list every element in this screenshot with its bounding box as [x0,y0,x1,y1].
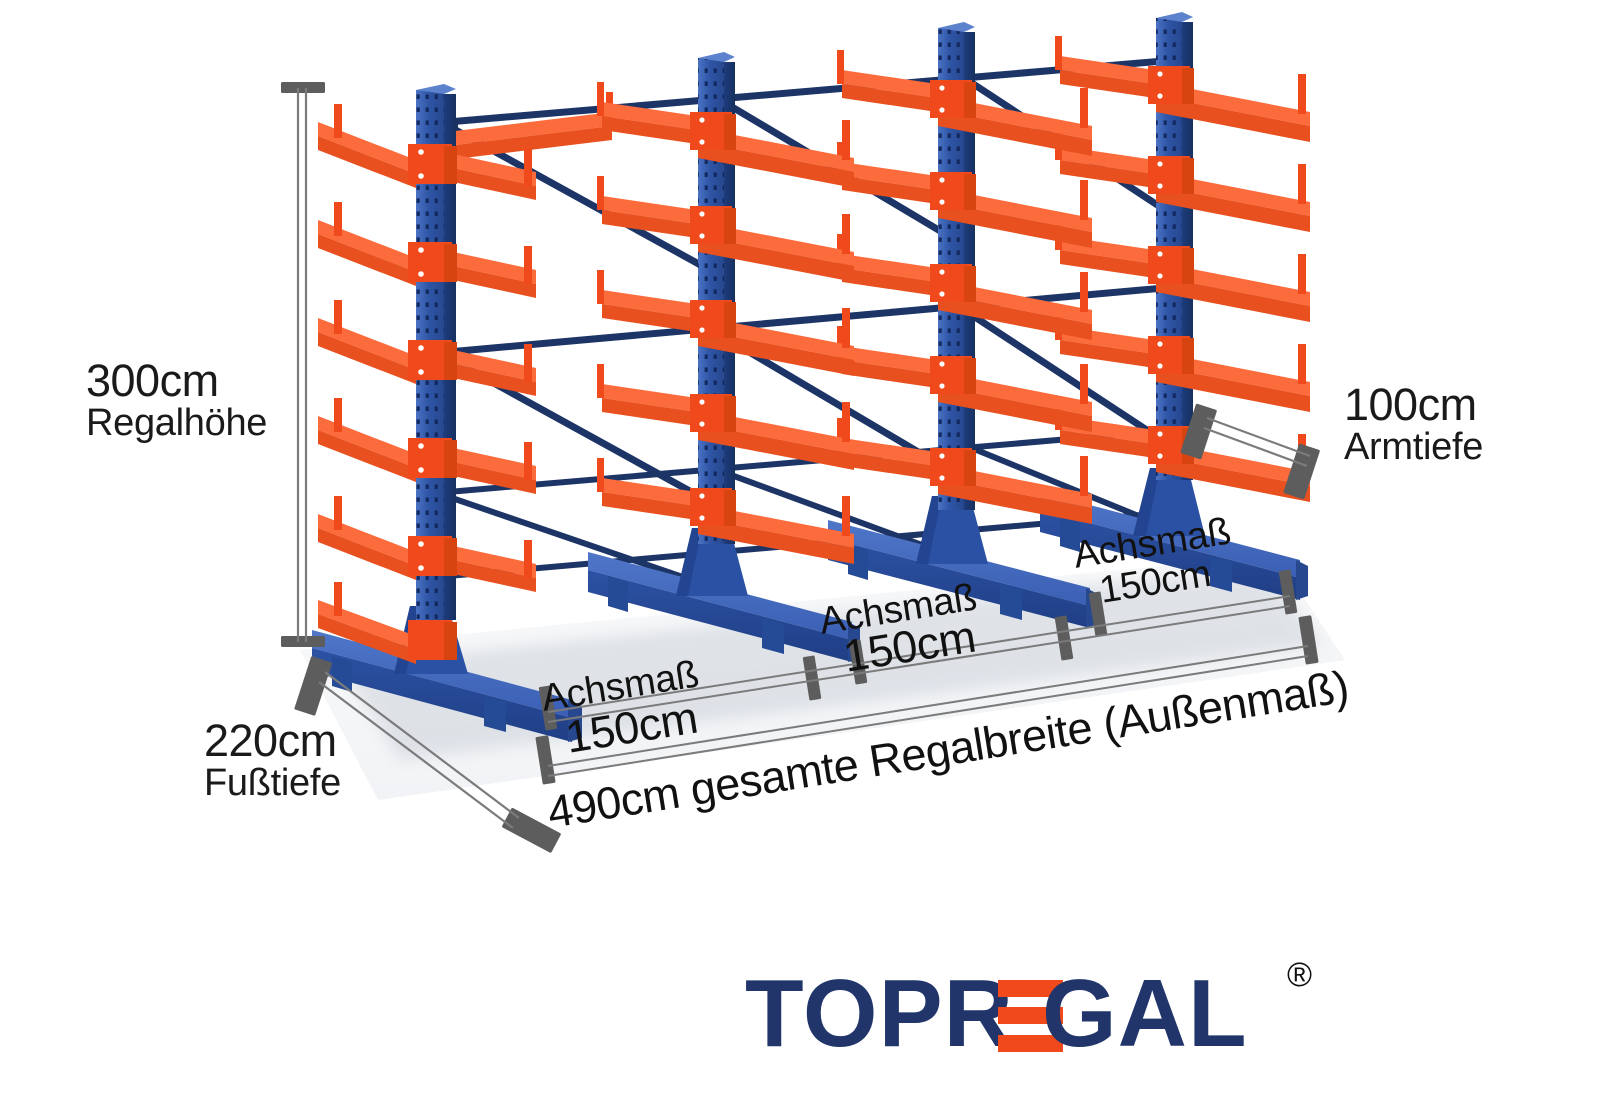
arm-set [837,50,1092,524]
footdepth-value: 220cm [204,718,341,764]
cantilever-rack-illustration [0,0,1600,1100]
arm-front [318,496,416,580]
dimension-label-armdepth: 100cm Armtiefe [1344,382,1483,468]
diagram-canvas: 300cm Regalhöhe 100cm Armtiefe 220cm Fuß… [0,0,1600,1100]
arm-set [597,82,854,564]
topregal-logo: TOPR GAL ® [745,958,1325,1070]
registered-trademark-icon: ® [1287,956,1312,995]
arm-rear [444,148,536,200]
dimension-label-height: 300cm Regalhöhe [86,358,267,444]
height-value: 300cm [86,358,267,404]
dimension-height [281,82,325,647]
arm-front [318,398,416,482]
dimension-label-footdepth: 220cm Fußtiefe [204,718,341,804]
logo-text-prefix: TOPR [745,958,1014,1070]
arm-front [318,300,416,384]
height-name: Regalhöhe [86,404,267,444]
arm-front [318,104,416,188]
arm-front [318,202,416,286]
arm-rear [444,344,536,396]
arm-rear [444,246,536,298]
rack-frame-3 [828,22,1098,628]
armdepth-value: 100cm [1344,382,1483,428]
footdepth-name: Fußtiefe [204,764,341,804]
arm-rear [444,540,536,592]
armdepth-name: Armtiefe [1344,428,1483,468]
logo-text-suffix: GAL [1042,958,1248,1070]
rack-frame-2 [588,52,860,662]
arm-set [1055,36,1310,502]
